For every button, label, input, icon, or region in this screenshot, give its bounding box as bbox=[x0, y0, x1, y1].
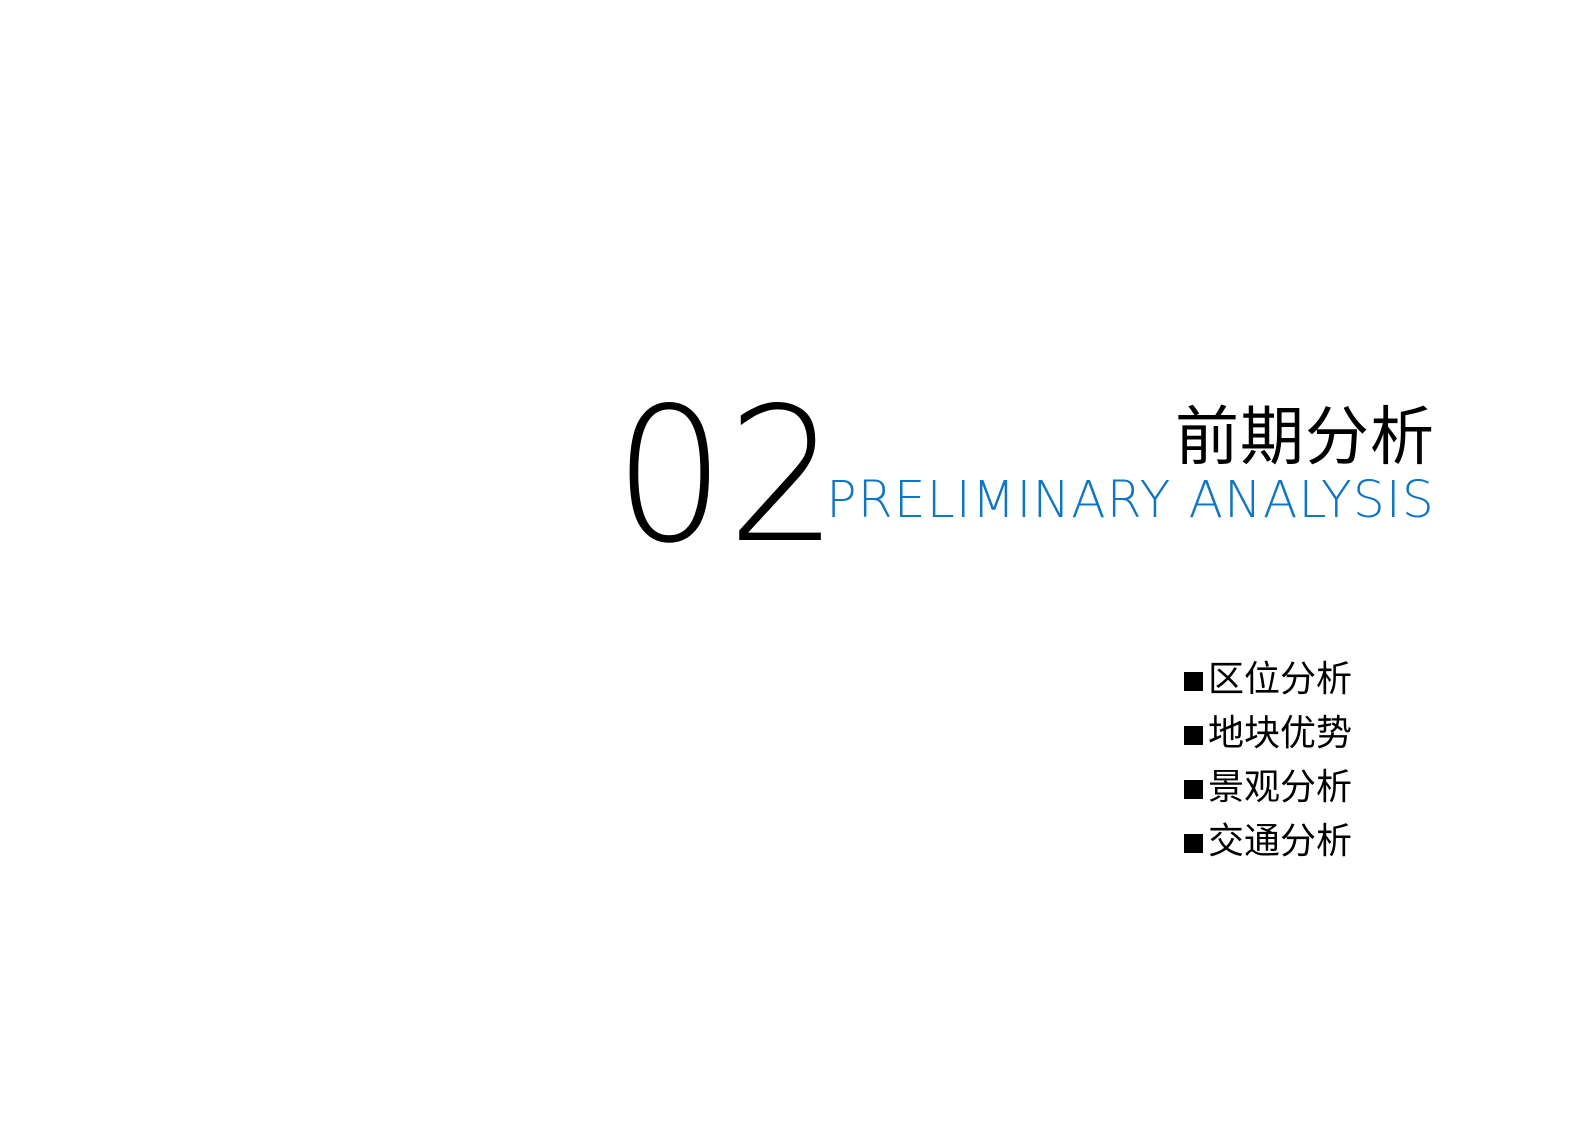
list-item[interactable]: 区位分析 bbox=[1184, 656, 1352, 704]
square-bullet-icon bbox=[1184, 780, 1203, 799]
section-title-block: 前期分析 PRELIMINARY ANALYSIS bbox=[817, 406, 1435, 528]
section-number: 02 bbox=[614, 383, 840, 569]
section-divider-slide: 02 前期分析 PRELIMINARY ANALYSIS 区位分析 地块优势 景… bbox=[0, 0, 1587, 1122]
section-title-english: PRELIMINARY ANALYSIS bbox=[826, 473, 1435, 528]
list-item-label: 区位分析 bbox=[1208, 662, 1352, 698]
list-item[interactable]: 景观分析 bbox=[1184, 764, 1352, 812]
square-bullet-icon bbox=[1184, 672, 1203, 691]
list-item-label: 景观分析 bbox=[1208, 770, 1352, 806]
list-item-label: 地块优势 bbox=[1208, 716, 1352, 752]
list-item[interactable]: 交通分析 bbox=[1184, 818, 1352, 866]
square-bullet-icon bbox=[1184, 834, 1203, 853]
section-agenda-list: 区位分析 地块优势 景观分析 交通分析 bbox=[1184, 656, 1352, 866]
section-title-chinese: 前期分析 bbox=[817, 406, 1435, 471]
list-item-label: 交通分析 bbox=[1208, 824, 1352, 860]
square-bullet-icon bbox=[1184, 726, 1203, 745]
list-item[interactable]: 地块优势 bbox=[1184, 710, 1352, 758]
